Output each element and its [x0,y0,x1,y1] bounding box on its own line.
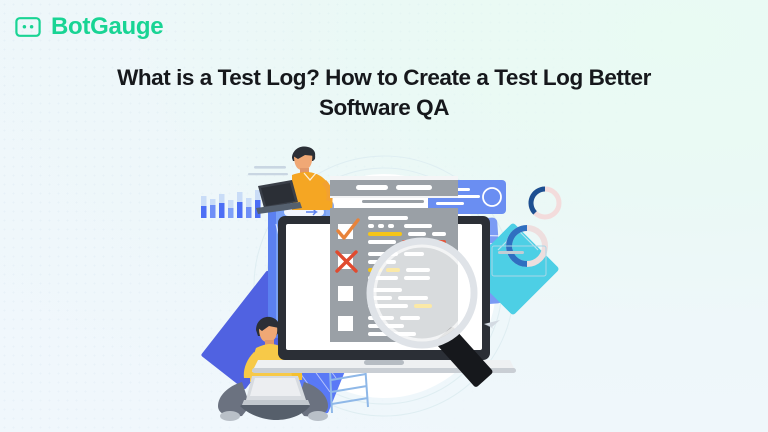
software-testing-hero-illustration: ? [180,128,584,428]
robot-face-icon [14,13,42,41]
decor-text-lines-left [248,166,288,175]
brand-name-text: BotGauge [51,15,163,39]
bar-chart-icon [201,190,261,218]
person-standing-with-laptop [256,146,333,214]
brand-logo[interactable]: BotGauge [14,13,163,41]
donut-ring-small [531,189,559,217]
page-title-line-1: What is a Test Log? How to Create a Test… [117,65,583,90]
page-title: What is a Test Log? How to Create a Test… [0,63,768,123]
